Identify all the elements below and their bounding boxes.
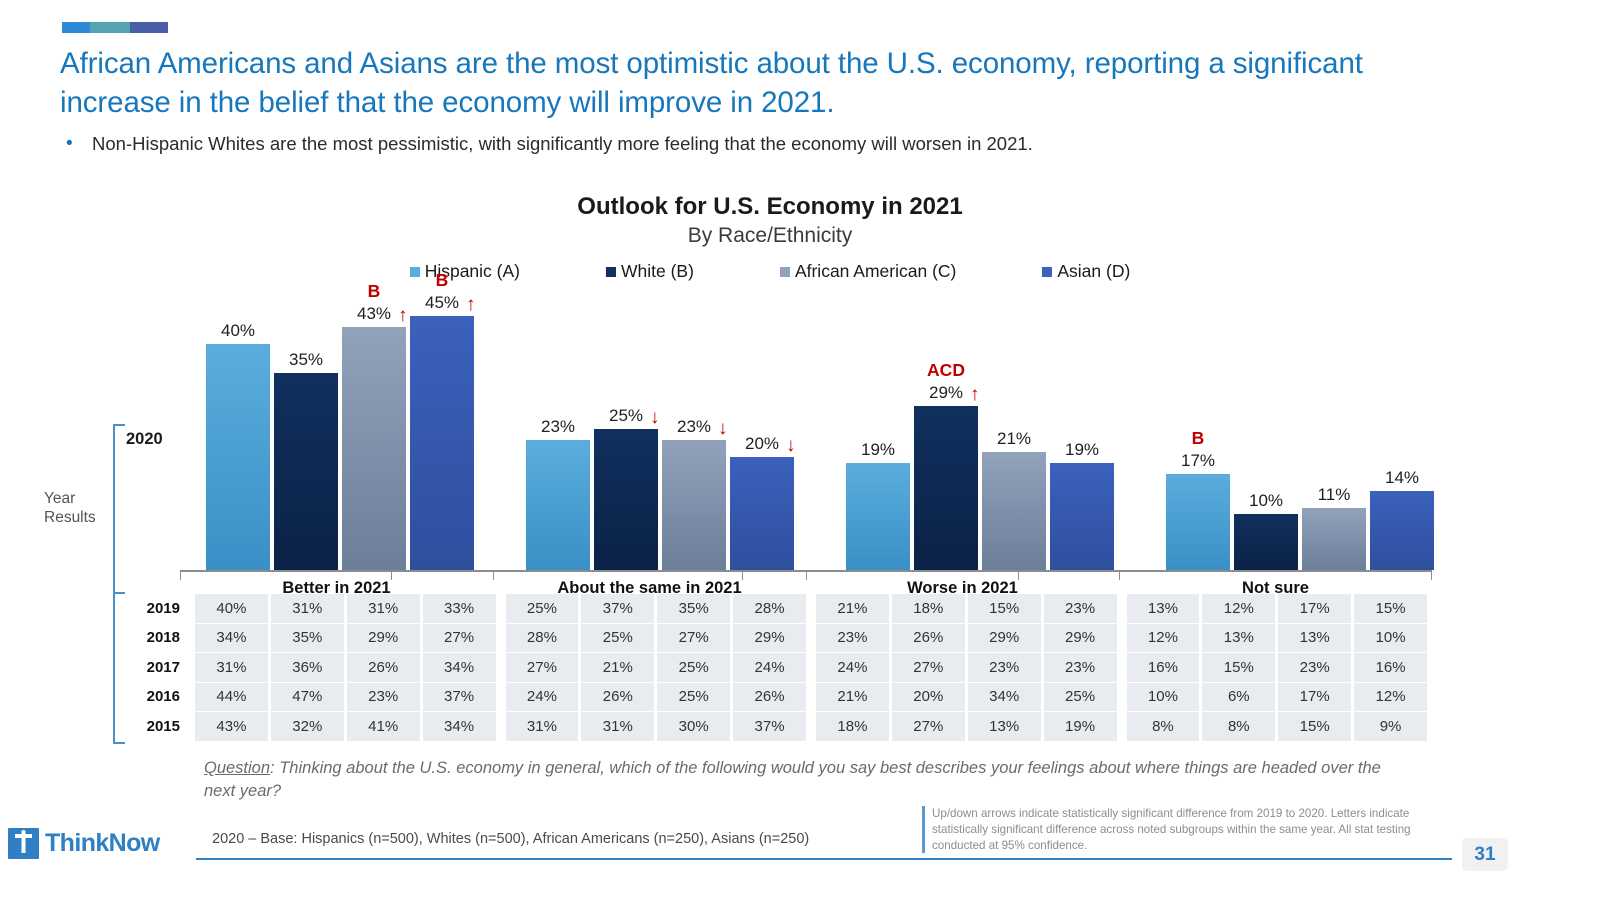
table-cell: 26% [892,624,965,653]
table-group-3: 12%13%13%10% [1122,624,1433,653]
year-axis-tick-bottom [113,742,125,744]
table-cell: 13% [1127,594,1200,623]
slide-bullet: • Non-Hispanic Whites are the most pessi… [66,132,1396,156]
table-cell: 23% [1044,594,1117,623]
bar[interactable]: 25%↓ [594,429,658,570]
table-cell: 31% [581,712,654,741]
accent-bar [62,22,168,33]
table-row: 201644%47%23%37%24%26%25%26%21%20%34%25%… [128,683,1432,712]
bar[interactable]: 19% [1050,463,1114,570]
table-cell: 27% [506,653,579,682]
table-cell: 37% [423,683,496,712]
table-cell: 31% [506,712,579,741]
table-cell: 15% [1278,712,1351,741]
bar[interactable]: 14% [1370,491,1434,570]
legend-swatch-icon [1042,267,1052,277]
bar-value-label: 43% [357,304,391,324]
table-cell: 18% [816,712,889,741]
bar-value-label: 10% [1249,491,1283,511]
legend-swatch-icon [606,267,616,277]
table-cell: 35% [657,594,730,623]
bar[interactable]: 11% [1302,508,1366,570]
table-group-1: 31%31%30%37% [501,712,812,741]
question-label: Question [204,759,270,777]
bar[interactable]: 23%↓ [662,440,726,570]
arrow-down-icon: ↓ [650,408,660,427]
bar[interactable]: 43%B↑ [342,327,406,570]
table-cell: 31% [195,653,268,682]
table-row-year: 2016 [128,683,190,712]
bar-slot: 35% [274,288,338,570]
table-cell: 26% [347,653,420,682]
table-cell: 18% [892,594,965,623]
table-cell: 8% [1127,712,1200,741]
bar[interactable]: 10% [1234,514,1298,570]
bar[interactable]: 21% [982,452,1046,570]
table-cell: 29% [733,624,806,653]
significance-footnote: Up/down arrows indicate statistically si… [922,806,1442,853]
table-cell: 29% [968,624,1041,653]
table-row-year: 2018 [128,624,190,653]
bar[interactable]: 29%ACD↑ [914,406,978,570]
slide-headline: African Americans and Asians are the mos… [60,44,1390,122]
table-cell: 16% [1354,653,1427,682]
table-cell: 36% [271,653,344,682]
legend-label: White (B) [621,261,694,282]
accent-segment-3 [130,22,168,33]
legend-label: Asian (D) [1057,261,1130,282]
chart-legend: Hispanic (A)White (B)African American (C… [180,261,1360,282]
table-group-2: 23%26%29%29% [811,624,1122,653]
table-cell: 13% [1202,624,1275,653]
table-cell: 35% [271,624,344,653]
arrow-up-icon: ↑ [466,295,476,314]
significance-letter: B [436,270,449,291]
legend-item-3[interactable]: Asian (D) [1042,261,1130,282]
bar-slot: 23%↓ [662,288,726,570]
legend-item-0[interactable]: Hispanic (A) [410,261,520,282]
table-cell: 29% [1044,624,1117,653]
table-cell: 27% [892,712,965,741]
table-row-year: 2017 [128,653,190,682]
accent-segment-2 [90,22,130,33]
table-cell: 29% [347,624,420,653]
chart-subtitle: By Race/Ethnicity [180,224,1360,248]
table-cell: 40% [195,594,268,623]
table-group-0: 34%35%29%27% [190,624,501,653]
table-cell: 34% [195,624,268,653]
table-cell: 27% [892,653,965,682]
table-cell: 37% [581,594,654,623]
legend-swatch-icon [780,267,790,277]
table-cell: 31% [347,594,420,623]
year-axis-tick-mid [113,592,125,594]
accent-segment-1 [62,22,90,33]
significance-letter: B [368,281,381,302]
history-table: 201940%31%31%33%25%37%35%28%21%18%15%23%… [128,594,1432,742]
year-axis-line [113,424,115,742]
table-cell: 33% [423,594,496,623]
legend-item-1[interactable]: White (B) [606,261,694,282]
table-cell: 15% [1354,594,1427,623]
table-cell: 9% [1354,712,1427,741]
table-cell: 28% [733,594,806,623]
bar-value-label: 40% [221,321,255,341]
table-cell: 43% [195,712,268,741]
table-cell: 24% [733,653,806,682]
table-cell: 41% [347,712,420,741]
table-cell: 34% [423,712,496,741]
table-cell: 44% [195,683,268,712]
table-cell: 21% [581,653,654,682]
table-cell: 23% [1044,653,1117,682]
table-cell: 17% [1278,594,1351,623]
table-group-3: 10%6%17%12% [1122,683,1433,712]
bar-value-label: 35% [289,350,323,370]
table-cell: 13% [1278,624,1351,653]
table-cell: 25% [657,683,730,712]
table-row: 201834%35%29%27%28%25%27%29%23%26%29%29%… [128,624,1432,653]
table-row-year: 2015 [128,712,190,741]
legend-swatch-icon [410,267,420,277]
bar[interactable]: 23% [526,440,590,570]
bar-group-2: 19%29%ACD↑21%19% [820,288,1140,570]
table-cell: 27% [657,624,730,653]
bar-value-label: 20% [745,434,779,454]
bar[interactable]: 45%B↑ [410,316,474,570]
table-cell: 24% [816,653,889,682]
bar-value-label: 14% [1385,468,1419,488]
table-group-0: 40%31%31%33% [190,594,501,623]
table-group-2: 21%20%34%25% [811,683,1122,712]
chart-plot-area: 40%35%43%B↑45%B↑23%25%↓23%↓20%↓19%29%ACD… [180,288,1432,570]
significance-letter: ACD [927,360,965,381]
bar-slot: 29%ACD↑ [914,288,978,570]
base-text: 2020 – Base: Hispanics (n=500), Whites (… [212,831,809,847]
bar-value-label: 25% [609,406,643,426]
table-cell: 25% [506,594,579,623]
bar[interactable]: 19% [846,463,910,570]
bar[interactable]: 20%↓ [730,457,794,570]
table-cell: 12% [1127,624,1200,653]
table-cell: 31% [271,594,344,623]
table-cell: 19% [1044,712,1117,741]
table-group-3: 16%15%23%16% [1122,653,1433,682]
table-cell: 26% [733,683,806,712]
year-results-label: YearResults [44,490,108,528]
bar-slot: 19% [846,288,910,570]
table-cell: 26% [581,683,654,712]
bar-slot: 17%B [1166,288,1230,570]
arrow-up-icon: ↑ [398,306,408,325]
bar-slot: 21% [982,288,1046,570]
year-axis-tick-top [113,424,125,426]
table-cell: 21% [816,594,889,623]
table-group-1: 25%37%35%28% [501,594,812,623]
table-cell: 30% [657,712,730,741]
table-cell: 20% [892,683,965,712]
table-cell: 12% [1202,594,1275,623]
table-group-2: 21%18%15%23% [811,594,1122,623]
table-cell: 32% [271,712,344,741]
bar-value-label: 23% [677,417,711,437]
bar-value-label: 29% [929,383,963,403]
chart-title: Outlook for U.S. Economy in 2021 [180,193,1360,221]
bar[interactable]: 40% [206,344,270,570]
bar[interactable]: 35% [274,373,338,570]
table-group-1: 28%25%27%29% [501,624,812,653]
bar-group-0: 40%35%43%B↑45%B↑ [180,288,500,570]
table-group-2: 24%27%23%23% [811,653,1122,682]
table-cell: 12% [1354,683,1427,712]
table-cell: 24% [506,683,579,712]
bar-slot: 25%↓ [594,288,658,570]
bullet-text: Non-Hispanic Whites are the most pessimi… [92,132,1033,155]
table-cell: 23% [968,653,1041,682]
table-cell: 23% [816,624,889,653]
table-cell: 47% [271,683,344,712]
table-group-0: 31%36%26%34% [190,653,501,682]
year-label-2020: 2020 [126,430,163,449]
table-cell: 13% [968,712,1041,741]
page-number-badge: 31 [1462,838,1508,871]
table-cell: 34% [968,683,1041,712]
bar-slot: 11% [1302,288,1366,570]
slide-canvas: African Americans and Asians are the mos… [0,0,1600,900]
bar-value-label: 11% [1318,485,1351,505]
table-row: 201731%36%26%34%27%21%25%24%24%27%23%23%… [128,653,1432,682]
table-cell: 16% [1127,653,1200,682]
bullet-marker-icon: • [66,132,80,156]
table-cell: 17% [1278,683,1351,712]
footer-divider [196,858,1452,860]
bar-slot: 10% [1234,288,1298,570]
table-group-3: 8%8%15%9% [1122,712,1433,741]
bar-slot: 19% [1050,288,1114,570]
arrow-up-icon: ↑ [970,385,980,404]
bar-group-1: 23%25%↓23%↓20%↓ [500,288,820,570]
table-cell: 37% [733,712,806,741]
table-cell: 8% [1202,712,1275,741]
bar-value-label: 19% [861,440,895,460]
bar-value-label: 45% [425,293,459,313]
table-group-3: 13%12%17%15% [1122,594,1433,623]
table-group-2: 18%27%13%19% [811,712,1122,741]
table-row: 201940%31%31%33%25%37%35%28%21%18%15%23%… [128,594,1432,623]
table-row-year: 2019 [128,594,190,623]
thinknow-mark-icon [8,828,39,859]
table-group-0: 43%32%41%34% [190,712,501,741]
bar-slot: 43%B↑ [342,288,406,570]
question-text: Question: Thinking about the U.S. econom… [204,757,1384,803]
table-cell: 28% [506,624,579,653]
table-cell: 23% [347,683,420,712]
significance-letter: B [1192,428,1205,449]
bar-slot: 20%↓ [730,288,794,570]
table-cell: 15% [1202,653,1275,682]
bar-value-label: 19% [1065,440,1099,460]
bar-value-label: 23% [541,417,575,437]
table-cell: 15% [968,594,1041,623]
table-cell: 10% [1127,683,1200,712]
bar[interactable]: 17%B [1166,474,1230,570]
bar-value-label: 21% [997,429,1031,449]
legend-label: African American (C) [795,261,956,282]
thinknow-logo: ThinkNow [8,828,160,859]
table-cell: 25% [581,624,654,653]
table-cell: 25% [1044,683,1117,712]
table-cell: 21% [816,683,889,712]
bar-slot: 40% [206,288,270,570]
table-cell: 23% [1278,653,1351,682]
table-row: 201543%32%41%34%31%31%30%37%18%27%13%19%… [128,712,1432,741]
question-body: : Thinking about the U.S. economy in gen… [204,759,1381,800]
table-group-1: 27%21%25%24% [501,653,812,682]
bar-group-3: 17%B10%11%14% [1140,288,1460,570]
arrow-down-icon: ↓ [786,436,796,455]
bar-slot: 23% [526,288,590,570]
table-group-1: 24%26%25%26% [501,683,812,712]
thinknow-wordmark: ThinkNow [45,829,160,858]
table-cell: 25% [657,653,730,682]
table-cell: 6% [1202,683,1275,712]
legend-item-2[interactable]: African American (C) [780,261,956,282]
table-cell: 34% [423,653,496,682]
table-cell: 10% [1354,624,1427,653]
table-group-0: 44%47%23%37% [190,683,501,712]
bar-slot: 45%B↑ [410,288,474,570]
bar-slot: 14% [1370,288,1434,570]
bar-value-label: 17% [1181,451,1215,471]
table-cell: 27% [423,624,496,653]
arrow-down-icon: ↓ [718,419,728,438]
